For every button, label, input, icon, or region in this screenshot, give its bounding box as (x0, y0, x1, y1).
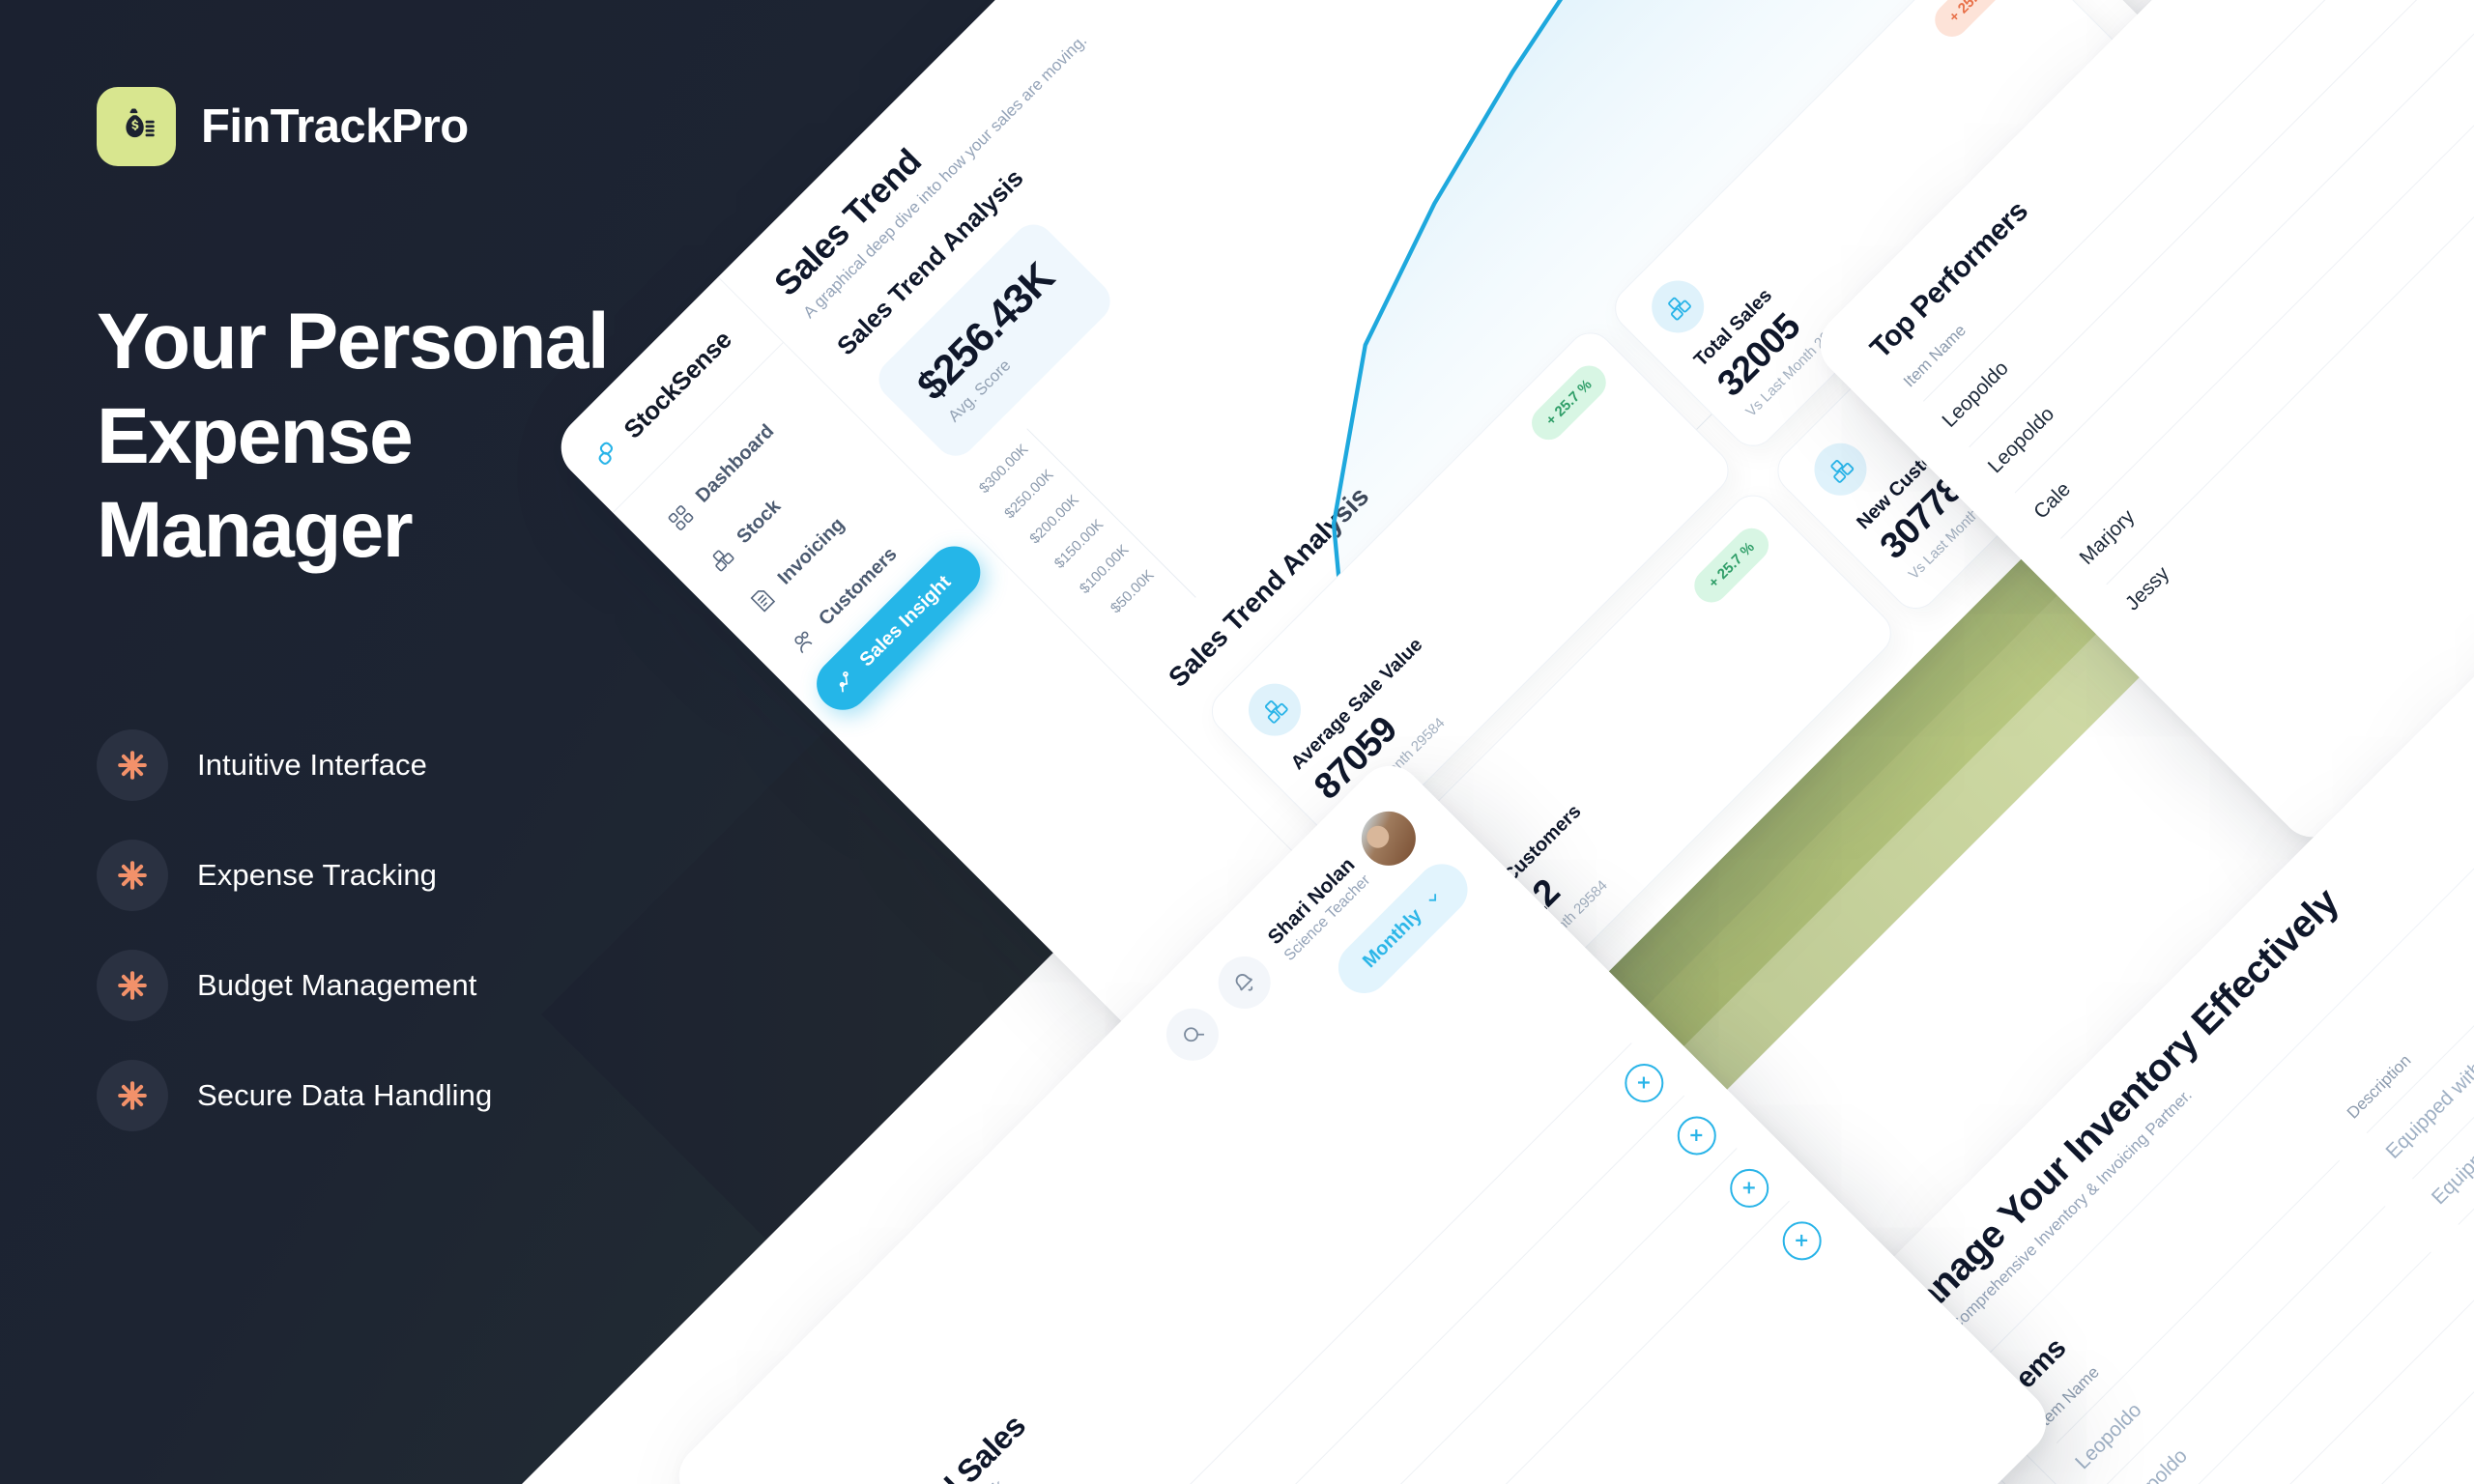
brand: FinTrackPro (97, 87, 469, 166)
boxes-icon (1803, 433, 1877, 506)
asterisk-icon (97, 729, 168, 801)
chevron-down-icon (1421, 886, 1445, 910)
close-circle-icon[interactable]: × (1774, 1213, 1829, 1269)
close-circle-icon[interactable]: × (1669, 1108, 1724, 1163)
asterisk-icon (97, 1060, 168, 1131)
search-icon[interactable] (1156, 998, 1229, 1071)
feature-label: Expense Tracking (197, 858, 437, 893)
headline-line-1: Your Personal (97, 295, 715, 389)
feature-label: Secure Data Handling (197, 1078, 492, 1113)
money-bag-icon (97, 87, 176, 166)
avatar[interactable] (1350, 800, 1426, 876)
headline-line-3: Manager (97, 483, 715, 578)
boxes-icon (1641, 270, 1714, 343)
marketing-panel: FinTrackPro Your Personal Expense Manage… (0, 0, 792, 1484)
feature-item-intuitive-interface: Intuitive Interface (97, 729, 492, 801)
page-headline: Your Personal Expense Manager (97, 295, 715, 578)
feature-label: Budget Management (197, 968, 477, 1003)
brand-name: FinTrackPro (201, 100, 469, 154)
feature-item-expense-tracking: Expense Tracking (97, 840, 492, 911)
bell-icon[interactable] (1207, 946, 1280, 1019)
asterisk-icon (97, 950, 168, 1021)
boxes-icon (1238, 672, 1311, 746)
close-circle-icon[interactable]: × (1617, 1056, 1672, 1111)
close-circle-icon[interactable]: × (1722, 1161, 1777, 1216)
status-badge: + 25.7 % (1928, 0, 2016, 43)
money-bag-glyph (115, 105, 158, 148)
asterisk-icon (97, 840, 168, 911)
range-dropdown-label: Monthly (1359, 904, 1426, 972)
headline-line-2: Expense (97, 389, 715, 484)
feature-item-budget-management: Budget Management (97, 950, 492, 1021)
feature-list: Intuitive Interface Expense Tracking Bud… (97, 729, 492, 1131)
feature-item-secure-data-handling: Secure Data Handling (97, 1060, 492, 1131)
feature-label: Intuitive Interface (197, 748, 427, 783)
insight-icon (828, 666, 861, 699)
status-badge: + 25.7 % (1687, 522, 1775, 610)
